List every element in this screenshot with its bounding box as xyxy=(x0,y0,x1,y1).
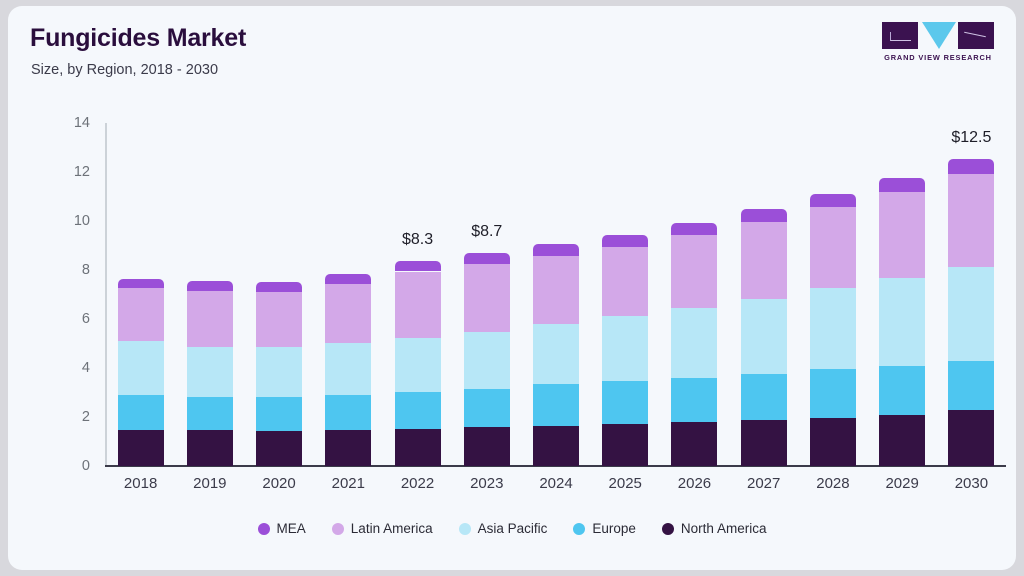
legend-label: Europe xyxy=(592,521,636,536)
bar-segment-2025-north-america xyxy=(602,424,648,466)
chart-card: Fungicides Market Size, by Region, 2018 … xyxy=(8,6,1016,570)
bar-segment-2023-north-america xyxy=(464,427,510,466)
legend-swatch-icon xyxy=(459,523,471,535)
bar-segment-2021-north-america xyxy=(325,430,371,466)
bar-segment-2024-asia-pacific xyxy=(533,324,579,385)
bar-2018[interactable] xyxy=(118,279,164,466)
bar-segment-2021-asia-pacific xyxy=(325,343,371,395)
value-label-2023: $8.7 xyxy=(432,223,542,241)
bar-2024[interactable] xyxy=(533,244,579,466)
y-axis-tick-0: 0 xyxy=(50,458,90,474)
legend-label: MEA xyxy=(277,521,306,536)
legend-label: North America xyxy=(681,521,767,536)
bar-segment-2019-latin-america xyxy=(187,291,233,347)
legend-label: Latin America xyxy=(351,521,433,536)
bar-segment-2030-asia-pacific xyxy=(948,267,994,361)
bar-segment-2027-latin-america xyxy=(741,222,787,299)
page-subtitle: Size, by Region, 2018 - 2030 xyxy=(31,62,218,78)
bar-segment-2030-mea xyxy=(948,159,994,174)
y-axis-tick-6: 6 xyxy=(50,311,90,327)
bar-segment-2021-latin-america xyxy=(325,284,371,342)
legend-item-latin-america[interactable]: Latin America xyxy=(332,521,433,536)
legend-swatch-icon xyxy=(258,523,270,535)
bar-segment-2021-mea xyxy=(325,274,371,284)
logo-marks xyxy=(882,22,994,50)
bar-segment-2028-mea xyxy=(810,194,856,207)
bar-segment-2020-mea xyxy=(256,282,302,291)
bar-segment-2023-europe xyxy=(464,389,510,428)
bar-segment-2025-asia-pacific xyxy=(602,316,648,381)
y-axis-tick-10: 10 xyxy=(50,213,90,229)
bar-segment-2019-north-america xyxy=(187,430,233,466)
bar-segment-2023-mea xyxy=(464,253,510,264)
logo-square-right-icon xyxy=(958,22,994,49)
grand-view-research-logo: GRAND VIEW RESEARCH xyxy=(882,22,994,66)
bar-2030[interactable] xyxy=(948,159,994,466)
bar-segment-2019-europe xyxy=(187,397,233,431)
bar-2027[interactable] xyxy=(741,209,787,466)
bar-segment-2029-latin-america xyxy=(879,192,925,278)
bar-2020[interactable] xyxy=(256,282,302,466)
bar-segment-2027-mea xyxy=(741,209,787,222)
bar-segment-2029-asia-pacific xyxy=(879,278,925,365)
bar-segment-2019-asia-pacific xyxy=(187,347,233,397)
bar-segment-2029-europe xyxy=(879,366,925,415)
bar-segment-2020-latin-america xyxy=(256,292,302,347)
bar-segment-2019-mea xyxy=(187,281,233,290)
bar-segment-2018-asia-pacific xyxy=(118,341,164,395)
bar-segment-2030-europe xyxy=(948,361,994,410)
bar-segment-2022-europe xyxy=(395,392,441,429)
bar-segment-2020-asia-pacific xyxy=(256,347,302,397)
bar-segment-2024-europe xyxy=(533,384,579,425)
bar-segment-2020-europe xyxy=(256,397,302,431)
bar-segment-2024-mea xyxy=(533,244,579,256)
legend-label: Asia Pacific xyxy=(478,521,548,536)
x-axis-tick-2030: 2030 xyxy=(916,475,1016,492)
bar-segment-2018-mea xyxy=(118,279,164,288)
legend-swatch-icon xyxy=(662,523,674,535)
y-axis-tick-4: 4 xyxy=(50,360,90,376)
bar-segment-2021-europe xyxy=(325,395,371,430)
bar-2021[interactable] xyxy=(325,274,371,466)
bar-2026[interactable] xyxy=(671,223,717,466)
bar-segment-2018-north-america xyxy=(118,430,164,466)
bar-segment-2028-north-america xyxy=(810,418,856,467)
bar-2029[interactable] xyxy=(879,178,925,466)
bar-segment-2027-asia-pacific xyxy=(741,299,787,374)
legend-item-europe[interactable]: Europe xyxy=(573,521,636,536)
bar-segment-2028-europe xyxy=(810,369,856,418)
legend-swatch-icon xyxy=(332,523,344,535)
bar-segment-2030-latin-america xyxy=(948,174,994,267)
bar-segment-2026-north-america xyxy=(671,422,717,466)
bar-2028[interactable] xyxy=(810,194,856,466)
chart-legend: MEALatin AmericaAsia PacificEuropeNorth … xyxy=(8,521,1016,536)
y-axis-tick-8: 8 xyxy=(50,262,90,278)
bar-segment-2025-europe xyxy=(602,381,648,424)
y-axis-tick-14: 14 xyxy=(50,115,90,131)
bar-segment-2018-latin-america xyxy=(118,288,164,341)
bar-segment-2026-mea xyxy=(671,223,717,235)
y-axis-tick-labels: 02468101214 xyxy=(50,123,90,466)
bar-segment-2027-europe xyxy=(741,374,787,420)
bar-segment-2022-latin-america xyxy=(395,272,441,339)
bar-segment-2029-mea xyxy=(879,178,925,192)
logo-triangle-icon xyxy=(922,22,956,49)
bar-segment-2022-mea xyxy=(395,261,441,271)
bar-segment-2022-asia-pacific xyxy=(395,338,441,391)
bar-segment-2018-europe xyxy=(118,395,164,431)
logo-square-left-icon xyxy=(882,22,918,49)
bar-segment-2029-north-america xyxy=(879,415,925,466)
bar-segment-2022-north-america xyxy=(395,429,441,466)
legend-item-north-america[interactable]: North America xyxy=(662,521,767,536)
legend-swatch-icon xyxy=(573,523,585,535)
bar-segment-2025-latin-america xyxy=(602,247,648,316)
value-label-2030: $12.5 xyxy=(916,129,1016,147)
bar-segment-2026-europe xyxy=(671,378,717,422)
bar-segment-2026-latin-america xyxy=(671,235,717,308)
bar-segment-2024-latin-america xyxy=(533,256,579,324)
bar-segment-2020-north-america xyxy=(256,431,302,466)
y-axis-tick-2: 2 xyxy=(50,409,90,425)
bar-segment-2023-latin-america xyxy=(464,264,510,332)
bar-segment-2030-north-america xyxy=(948,410,994,466)
bar-segment-2023-asia-pacific xyxy=(464,332,510,388)
bar-segment-2024-north-america xyxy=(533,426,579,466)
bar-plot-area xyxy=(106,123,1006,466)
bar-segment-2028-asia-pacific xyxy=(810,288,856,368)
bar-2023[interactable] xyxy=(464,253,510,466)
page-title: Fungicides Market xyxy=(30,24,246,53)
bar-segment-2025-mea xyxy=(602,235,648,247)
bar-2022[interactable] xyxy=(395,261,441,466)
bar-segment-2026-asia-pacific xyxy=(671,308,717,378)
legend-item-asia-pacific[interactable]: Asia Pacific xyxy=(459,521,548,536)
bar-segment-2027-north-america xyxy=(741,420,787,466)
logo-wordmark: GRAND VIEW RESEARCH xyxy=(882,53,994,62)
bar-segment-2028-latin-america xyxy=(810,207,856,288)
y-axis-tick-12: 12 xyxy=(50,164,90,180)
bar-2019[interactable] xyxy=(187,281,233,466)
bar-2025[interactable] xyxy=(602,235,648,466)
legend-item-mea[interactable]: MEA xyxy=(258,521,306,536)
